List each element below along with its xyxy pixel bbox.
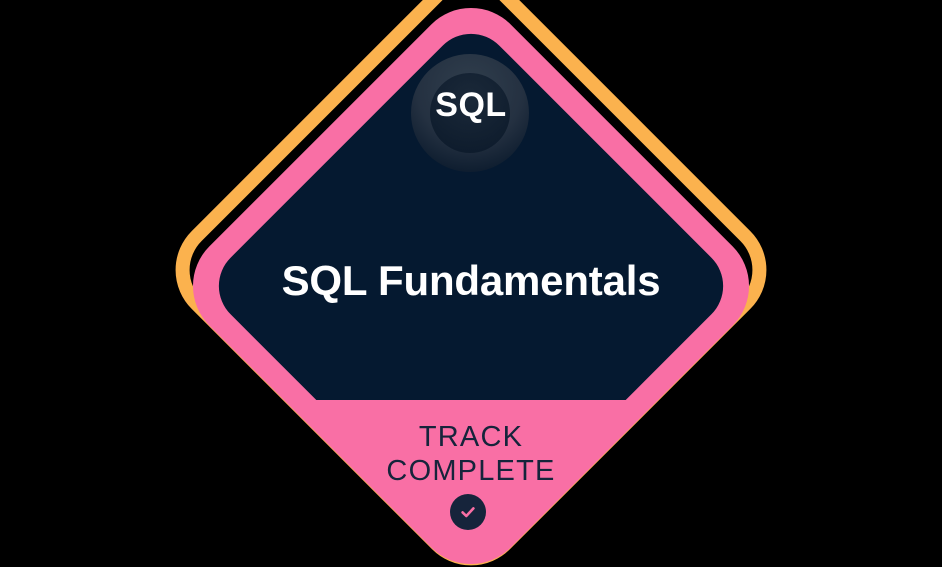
status-caption-line-1: TRACK <box>0 420 942 454</box>
badge-stage: SQL SQL Fundamentals TRACK COMPLETE <box>0 0 942 567</box>
check-mark-icon <box>458 502 478 522</box>
track-title: SQL Fundamentals <box>0 258 942 304</box>
completion-check-badge <box>450 494 486 530</box>
status-caption: TRACK COMPLETE <box>0 420 942 488</box>
sql-emblem-label: SQL <box>0 88 942 122</box>
status-caption-line-2: COMPLETE <box>0 454 942 488</box>
